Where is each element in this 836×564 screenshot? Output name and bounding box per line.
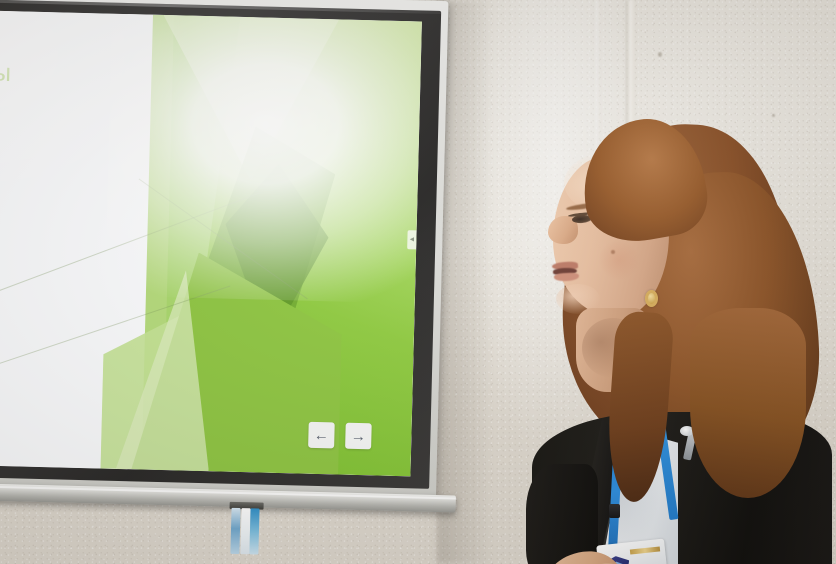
marker-set[interactable] (230, 502, 261, 559)
slide-bullet-list: …логических больных в КР. …тных программ… (0, 136, 154, 396)
blazer-sleeve (526, 464, 598, 564)
marker-cyan[interactable] (249, 508, 259, 554)
presentation-photo-scene: …ческой службы …логических больных в КР.… (0, 0, 836, 564)
slide-title: …ческой службы (0, 54, 138, 91)
whiteboard-screen[interactable]: …ческой службы …логических больных в КР.… (0, 8, 422, 476)
presentation-slide[interactable]: …ческой службы …логических больных в КР.… (0, 8, 422, 476)
presenter-figure (490, 112, 836, 564)
collapse-panel-tab[interactable]: ◄ (407, 231, 416, 250)
lanyard-clip (609, 504, 620, 518)
wall-blemish (658, 52, 662, 57)
slide-navigation: ← → (308, 422, 372, 450)
hair-lock-texture (614, 312, 804, 507)
marker-blue[interactable] (230, 508, 240, 554)
interactive-whiteboard[interactable]: …ческой службы …логических больных в КР.… (0, 0, 448, 517)
whiteboard-frame: …ческой службы …логических больных в КР.… (0, 0, 448, 499)
prev-slide-button[interactable]: ← (308, 422, 335, 449)
next-slide-button[interactable]: → (345, 423, 372, 450)
